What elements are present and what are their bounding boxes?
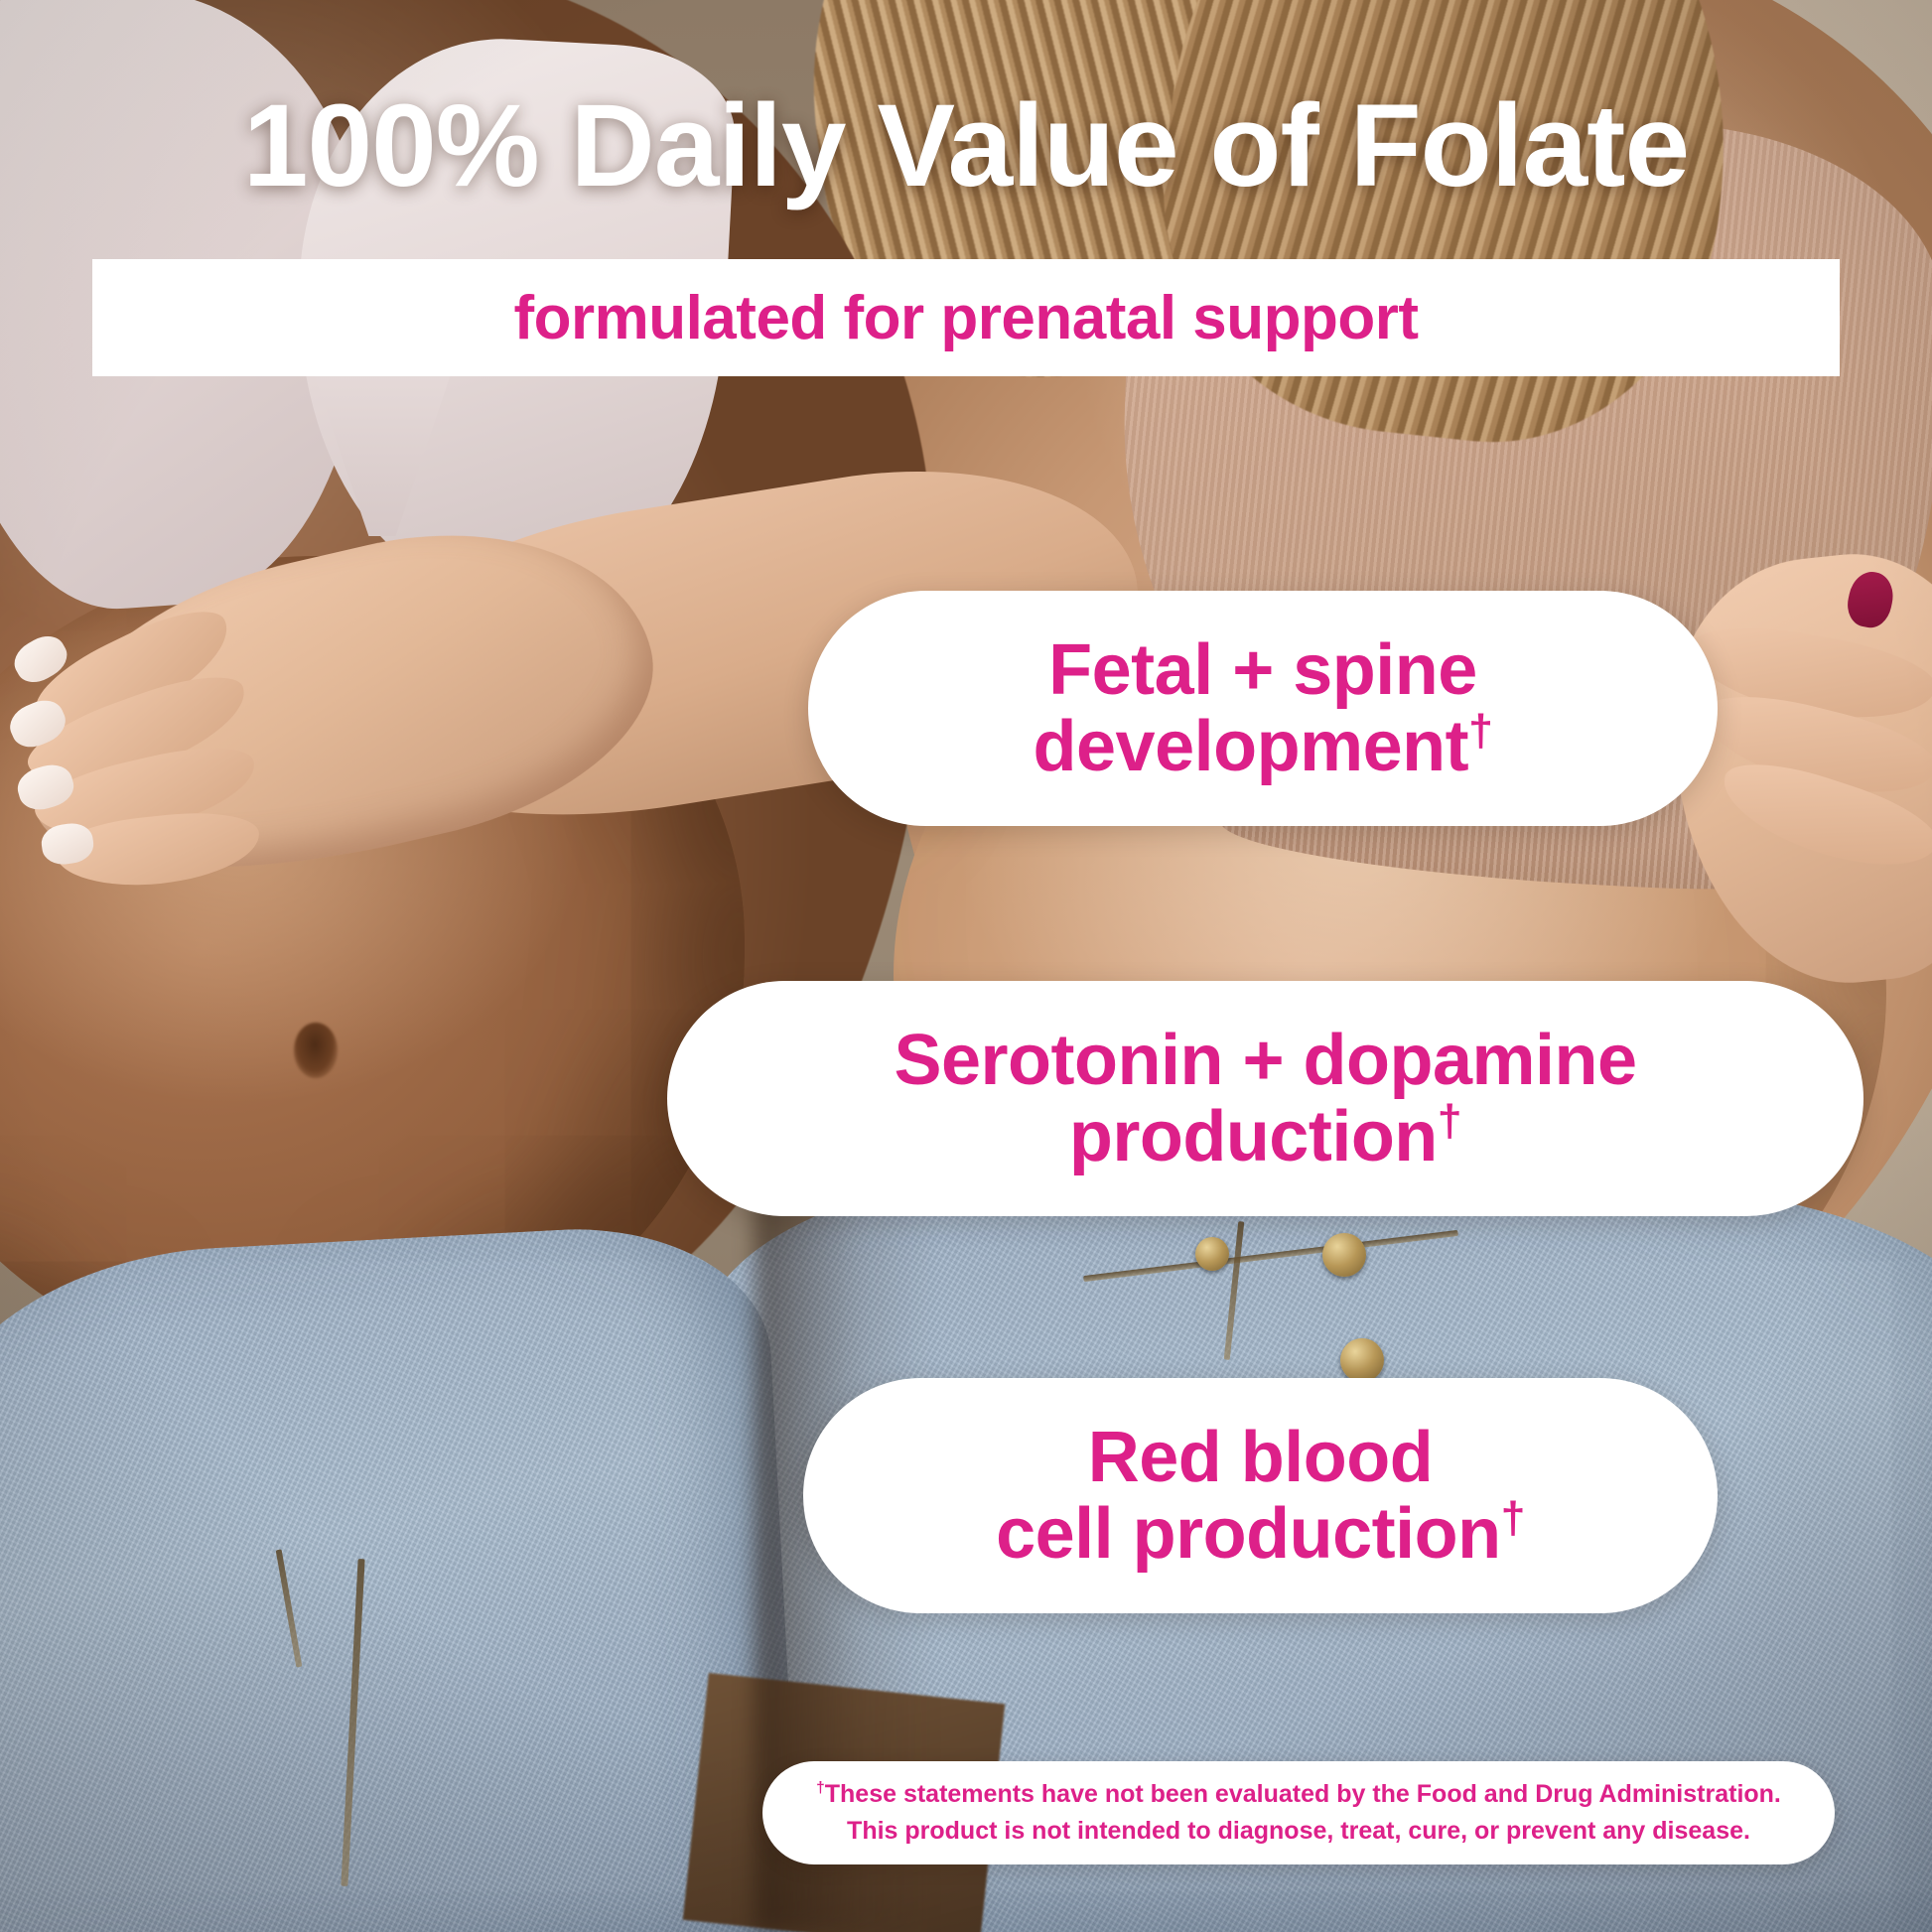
benefit-pill-serotonin-dopamine: Serotonin + dopamine production† — [667, 981, 1863, 1216]
benefit-line-2: development — [1034, 707, 1469, 786]
benefit-line-2: production — [1069, 1097, 1438, 1176]
benefit-line-1: Serotonin + dopamine — [894, 1021, 1636, 1100]
benefit-pill-red-blood-cell: Red blood cell production† — [803, 1378, 1718, 1613]
footnote-marker: † — [1468, 707, 1492, 756]
benefit-line-1: Fetal + spine — [1048, 630, 1477, 710]
benefit-pill-text: Fetal + spine development† — [1034, 632, 1493, 784]
footnote-marker: † — [816, 1780, 825, 1797]
promotional-graphic: 100% Daily Value of Folate formulated fo… — [0, 0, 1932, 1932]
benefit-line-2: cell production — [996, 1494, 1501, 1574]
disclaimer-line-2: This product is not intended to diagnose… — [847, 1813, 1750, 1850]
disclaimer-line-1: †These statements have not been evaluate… — [816, 1776, 1781, 1813]
subtitle-banner: formulated for prenatal support — [92, 259, 1840, 376]
footnote-marker: † — [1438, 1097, 1461, 1146]
subtitle-text: formulated for prenatal support — [513, 283, 1418, 353]
fda-disclaimer: †These statements have not been evaluate… — [762, 1761, 1835, 1864]
benefit-pill-text: Serotonin + dopamine production† — [894, 1023, 1636, 1174]
benefit-line-1: Red blood — [1088, 1418, 1433, 1497]
benefit-pill-text: Red blood cell production† — [996, 1420, 1525, 1572]
footnote-marker: † — [1501, 1494, 1525, 1543]
page-title: 100% Daily Value of Folate — [0, 85, 1932, 208]
benefit-pill-fetal-spine: Fetal + spine development† — [808, 591, 1718, 826]
